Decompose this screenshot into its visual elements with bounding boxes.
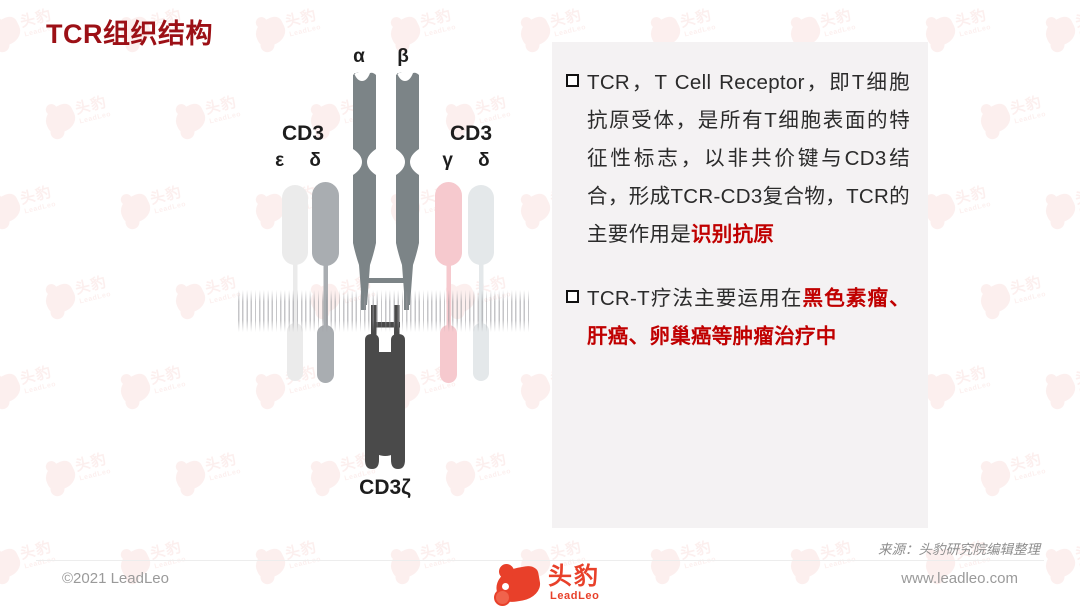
bullet-1-plain: TCR，T Cell Receptor，即T细胞抗原受体，是所有T细胞表面的特征… [587, 71, 910, 246]
cd3-left-subunits: ε δ [258, 150, 348, 172]
footer-divider [36, 560, 1044, 561]
watermark-logo: 头豹LeadLeo [116, 177, 196, 233]
bullet-text-2: TCR-T疗法主要运用在黑色素瘤、肝癌、卵巢癌等肿瘤治疗中 [587, 280, 910, 356]
leopard-eye-icon [502, 583, 509, 590]
watermark-logo: 头豹LeadLeo [976, 267, 1056, 323]
cd3-gamma-chain [435, 182, 462, 383]
cd3-zeta-chain [365, 334, 405, 469]
watermark-logo: 头豹LeadLeo [1041, 177, 1080, 233]
description-panel: TCR，T Cell Receptor，即T细胞抗原受体，是所有T细胞表面的特征… [552, 42, 928, 528]
cd3-left-title: CD3 [282, 122, 324, 145]
watermark-logo: 头豹LeadLeo [976, 444, 1056, 500]
watermark-logo: 头豹LeadLeo [1041, 532, 1080, 588]
copyright-text: ©2021 LeadLeo [62, 570, 169, 587]
cd3-right-subunits: γ δ [426, 150, 516, 172]
logo-chinese-text: 头豹 [548, 564, 600, 590]
source-note: 来源：头豹研究院编辑整理 [878, 538, 1040, 558]
watermark-logo: 头豹LeadLeo [41, 87, 121, 143]
beta-chain-label: β [390, 46, 416, 68]
cd3-delta-right-chain [468, 185, 494, 381]
leopard-ball-icon [494, 589, 511, 606]
cd3-left-label: CD3 ε δ [258, 122, 348, 172]
bullet-1-highlight: 识别抗原 [691, 223, 774, 246]
bullet-2-plain: TCR-T疗法主要运用在 [587, 287, 803, 310]
watermark-logo: 头豹LeadLeo [1041, 0, 1080, 56]
watermark-logo: 头豹LeadLeo [0, 357, 66, 413]
watermark-logo: 头豹LeadLeo [1041, 357, 1080, 413]
logo-english-text: LeadLeo [550, 591, 599, 602]
tcr-structure-diagram: α β CD3 ε δ CD3 γ δ CD3ζ [230, 40, 540, 520]
watermark-logo: 头豹LeadLeo [921, 357, 1001, 413]
leopard-ear-icon [499, 564, 514, 579]
bullet-text-1: TCR，T Cell Receptor，即T细胞抗原受体，是所有T细胞表面的特征… [587, 64, 910, 254]
watermark-logo: 头豹LeadLeo [976, 87, 1056, 143]
square-bullet-icon [566, 74, 579, 87]
cd3-zeta-label: CD3ζ [335, 476, 435, 500]
watermark-logo: 头豹LeadLeo [41, 267, 121, 323]
watermark-logo: 头豹LeadLeo [921, 0, 1001, 56]
cd3-right-title: CD3 [450, 122, 492, 145]
bullet-item: TCR-T疗法主要运用在黑色素瘤、肝癌、卵巢癌等肿瘤治疗中 [566, 280, 910, 356]
cd3-delta-left-chain [312, 182, 339, 383]
watermark-logo: 头豹LeadLeo [0, 177, 66, 233]
alpha-chain-label: α [346, 46, 372, 68]
leadleo-logo: 头豹 LeadLeo [490, 562, 620, 606]
bullet-item: TCR，T Cell Receptor，即T细胞抗原受体，是所有T细胞表面的特征… [566, 64, 910, 254]
square-bullet-icon [566, 290, 579, 303]
watermark-logo: 头豹LeadLeo [116, 357, 196, 413]
page-title: TCR组织结构 [46, 12, 213, 51]
cd3-epsilon-chain [282, 185, 308, 381]
watermark-logo: 头豹LeadLeo [41, 444, 121, 500]
cell-membrane-bilayer [238, 290, 532, 332]
cd3-right-label: CD3 γ δ [426, 122, 516, 172]
website-url[interactable]: www.leadleo.com [901, 570, 1018, 587]
tcr-diagram-svg [230, 40, 540, 520]
watermark-logo: 头豹LeadLeo [921, 177, 1001, 233]
